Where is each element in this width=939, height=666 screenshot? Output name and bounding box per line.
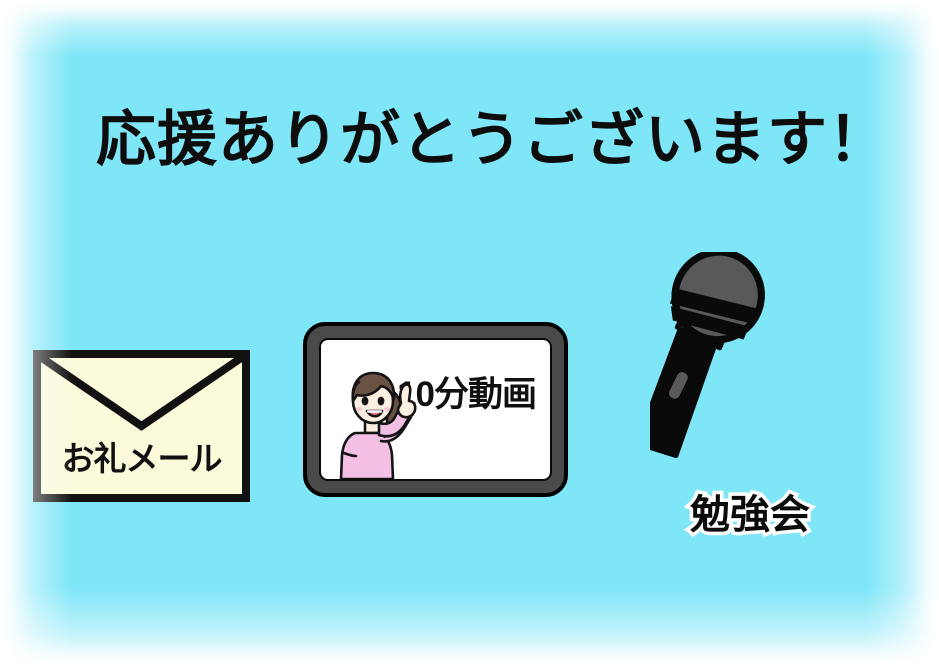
ten-minute-video-card[interactable]: 10分動画: [303, 322, 568, 497]
study-meeting-card[interactable]: [650, 252, 820, 480]
thank-you-mail-label: お礼メール: [33, 432, 250, 480]
video-screen: 10分動画: [319, 338, 552, 481]
study-meeting-label: 勉強会: [690, 482, 810, 540]
poster-canvas: 応援ありがとうございます！ お礼メール 10分動画: [0, 0, 939, 666]
microphone-icon: [650, 252, 820, 480]
page-title: 応援ありがとうございます！: [96, 108, 876, 171]
thank-you-mail-card[interactable]: お礼メール: [33, 350, 250, 502]
pointing-woman-icon: [329, 361, 439, 479]
